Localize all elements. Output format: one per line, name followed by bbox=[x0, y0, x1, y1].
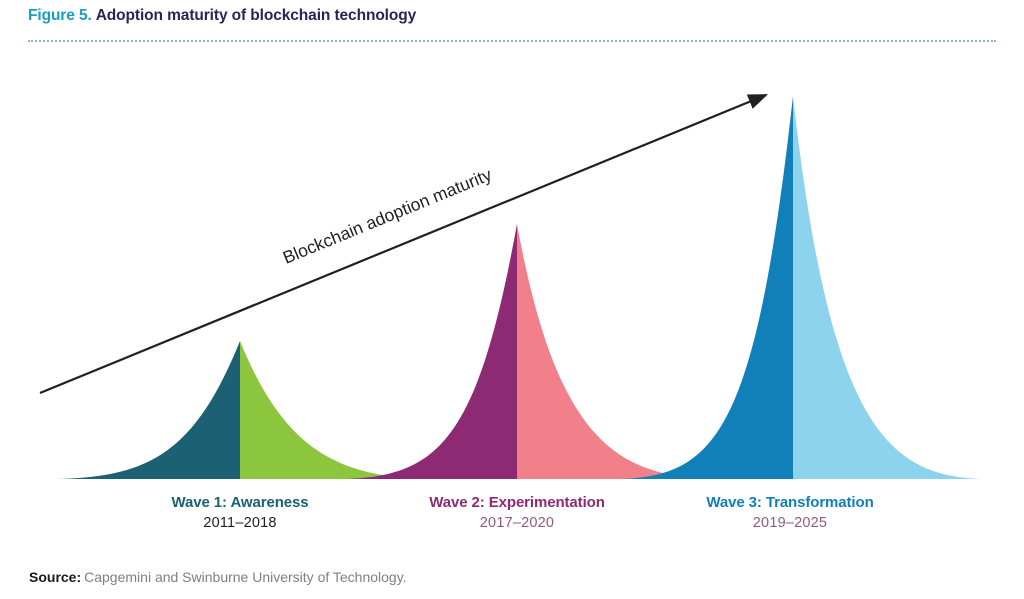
wave-3-label: Wave 3: Transformation bbox=[640, 493, 940, 513]
wave-1-right-half bbox=[240, 341, 430, 479]
wave-3-shape bbox=[620, 96, 983, 479]
wave-1-shape bbox=[57, 341, 430, 479]
source-label: Source: bbox=[29, 569, 81, 585]
figure-number-label: Figure 5. bbox=[28, 7, 92, 25]
wave-caption-awareness: Wave 1: Awareness 2011–2018 bbox=[90, 493, 390, 533]
wave-legend: Wave 1: Awareness 2011–2018 Wave 2: Expe… bbox=[0, 493, 1024, 545]
wave-caption-experimentation: Wave 2: Experimentation 2017–2020 bbox=[367, 493, 667, 533]
wave-1-years: 2011–2018 bbox=[90, 513, 390, 533]
wave-3-left-half bbox=[620, 96, 793, 479]
source-text: Capgemini and Swinburne University of Te… bbox=[84, 569, 406, 585]
wave-2-left-half bbox=[345, 224, 517, 479]
adoption-maturity-arrow: Blockchain adoption maturity bbox=[40, 95, 766, 393]
wave-2-right-half bbox=[517, 224, 712, 479]
wave-3-years: 2019–2025 bbox=[640, 513, 940, 533]
chart-canvas: Blockchain adoption maturity bbox=[0, 48, 1024, 493]
source-note: Source:Capgemini and Swinburne Universit… bbox=[29, 569, 407, 585]
wave-2-label: Wave 2: Experimentation bbox=[367, 493, 667, 513]
wave-1-left-half bbox=[57, 341, 240, 479]
header-divider bbox=[28, 40, 996, 44]
wave-caption-transformation: Wave 3: Transformation 2019–2025 bbox=[640, 493, 940, 533]
wave-2-years: 2017–2020 bbox=[367, 513, 667, 533]
wave-3-right-half bbox=[793, 96, 983, 479]
page-title: Figure 5. Adoption maturity of blockchai… bbox=[28, 3, 996, 29]
wave-2-shape bbox=[345, 224, 712, 479]
wave-1-label: Wave 1: Awareness bbox=[90, 493, 390, 513]
adoption-maturity-arrow-label: Blockchain adoption maturity bbox=[280, 164, 495, 267]
figure-title-text: Adoption maturity of blockchain technolo… bbox=[96, 7, 416, 25]
blockchain-adoption-wave-chart: Blockchain adoption maturity bbox=[0, 48, 1024, 493]
